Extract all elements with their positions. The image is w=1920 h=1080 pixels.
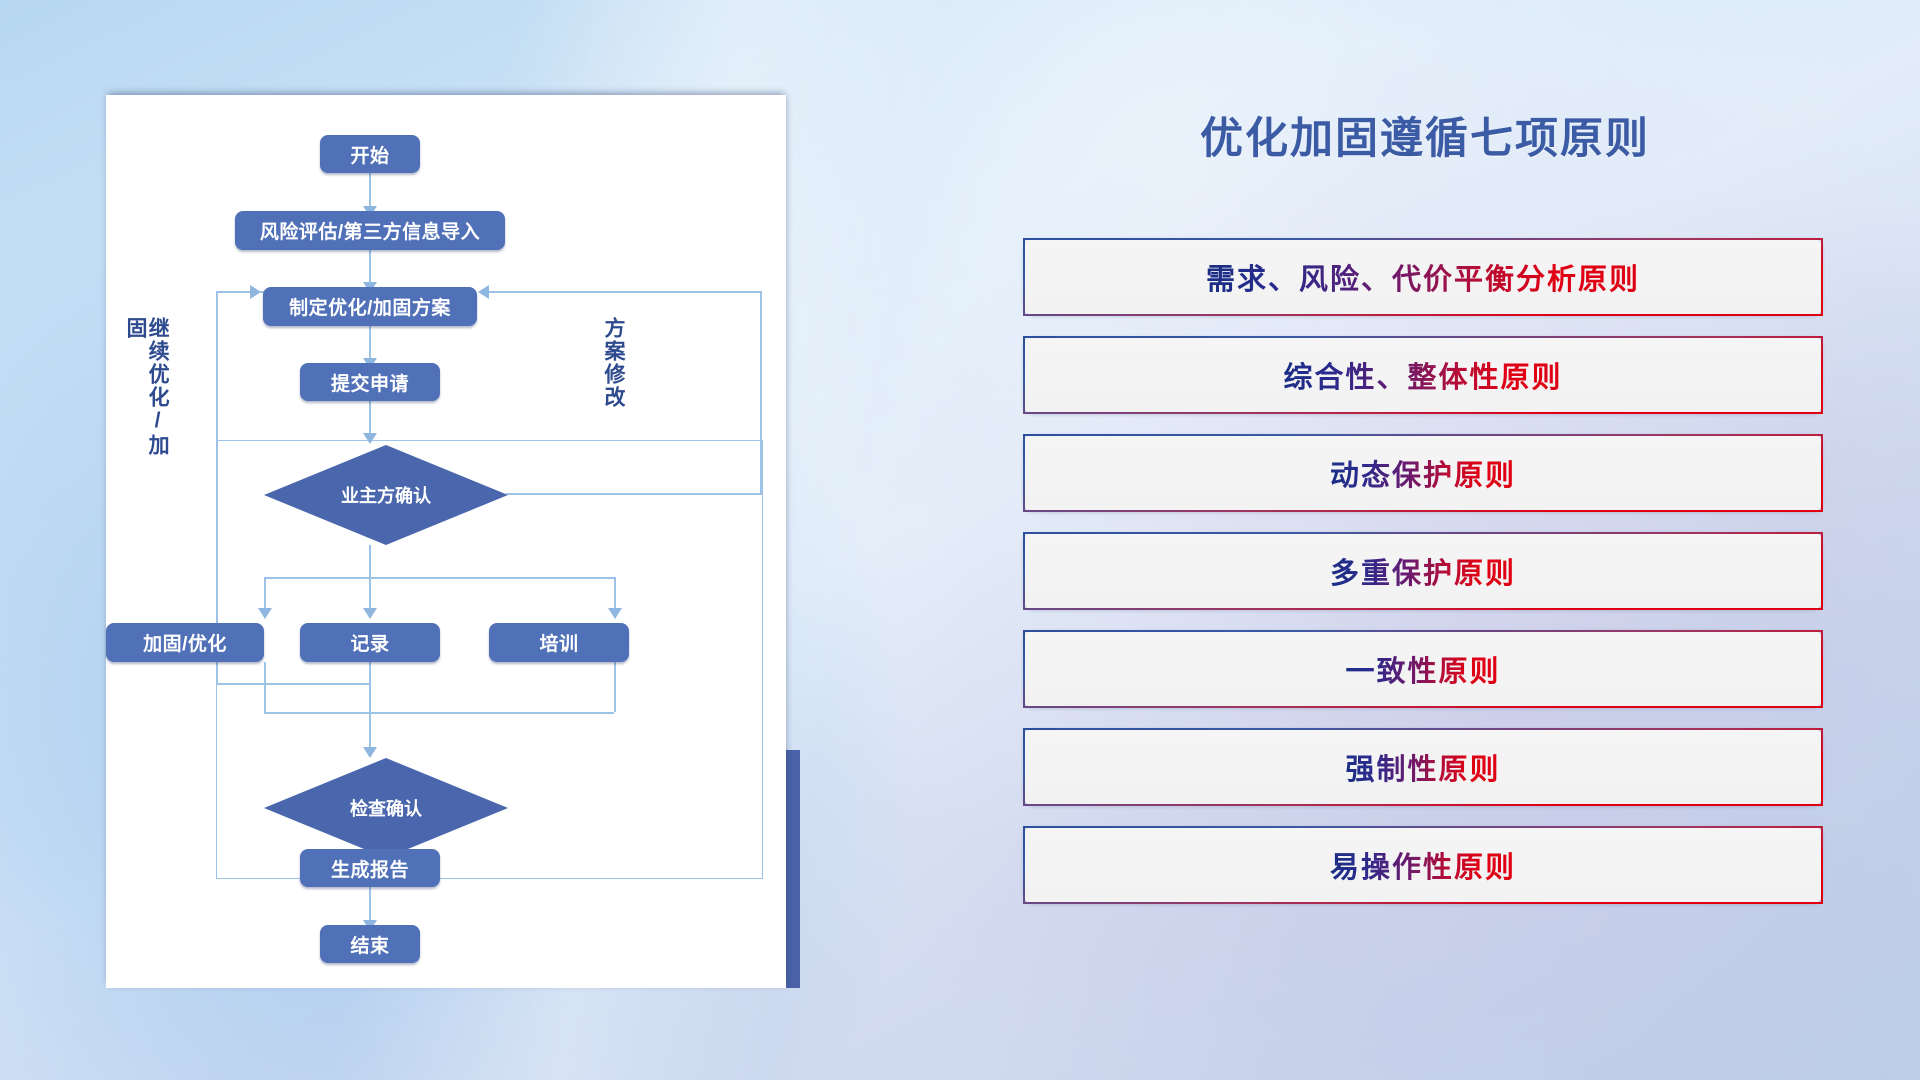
principle-card-1[interactable]: 需求、风险、代价平衡分析原则 <box>1023 238 1823 316</box>
connector-owner-right <box>506 493 762 495</box>
arrow-to-train <box>608 608 622 619</box>
arrow-to-reinforce <box>258 608 272 619</box>
principle-card-4-label: 多重保护原则 <box>1330 550 1516 592</box>
principle-card-7[interactable]: 易操作性原则 <box>1023 826 1823 904</box>
flow-node-risk-assessment[interactable]: 风险评估/第三方信息导入 <box>235 211 505 250</box>
flow-node-start[interactable]: 开始 <box>320 135 420 173</box>
principle-card-3-label: 动态保护原则 <box>1330 452 1516 494</box>
principle-card-5-label: 一致性原则 <box>1345 648 1500 690</box>
principle-card-5[interactable]: 一致性原则 <box>1023 630 1823 708</box>
connector-left-final <box>216 291 249 293</box>
principle-card-1-label: 需求、风险、代价平衡分析原则 <box>1206 256 1640 298</box>
flow-node-plan[interactable]: 制定优化/加固方案 <box>263 287 477 326</box>
flow-node-check-confirm-label: 检查确认 <box>350 795 422 821</box>
principle-card-6-label: 强制性原则 <box>1345 746 1500 788</box>
connector-right-to-plan <box>489 291 761 293</box>
flow-node-end[interactable]: 结束 <box>320 925 420 963</box>
arrow-left-into-plan <box>250 285 261 299</box>
principles-panel: 优化加固遵循七项原则 需求、风险、代价平衡分析原则 综合性、整体性原则 动态保护… <box>1010 78 1840 1008</box>
flow-node-risk-assessment-label: 风险评估/第三方信息导入 <box>260 217 480 244</box>
flow-node-reinforce[interactable]: 加固/优化 <box>106 623 264 662</box>
flow-node-record[interactable]: 记录 <box>300 623 440 662</box>
flow-node-end-label: 结束 <box>350 931 389 958</box>
connector-right-riser <box>760 291 762 495</box>
connector-owner-fanout <box>264 577 614 579</box>
principles-list: 需求、风险、代价平衡分析原则 综合性、整体性原则 动态保护原则 多重保护原则 一… <box>1023 238 1823 924</box>
flowchart-card: 开始 风险评估/第三方信息导入 制定优化/加固方案 提交申请 业主方确认 加固/… <box>106 95 786 988</box>
flow-edge-label-continue-optimize: 继续优化/加固 <box>124 317 168 457</box>
arrow-to-record <box>363 608 377 619</box>
flow-node-reinforce-label: 加固/优化 <box>143 629 227 656</box>
arrow-submit-to-owner <box>363 433 377 444</box>
connector-owner-down <box>369 545 371 577</box>
principle-card-3[interactable]: 动态保护原则 <box>1023 434 1823 512</box>
page-title: 优化加固遵循七项原则 <box>1010 104 1840 166</box>
connector-record-to-check <box>369 662 371 754</box>
flow-edge-label-plan-revision: 方案修改 <box>602 317 624 427</box>
flow-node-record-label: 记录 <box>350 629 389 656</box>
principle-card-2[interactable]: 综合性、整体性原则 <box>1023 336 1823 414</box>
connector-check-left <box>216 683 370 685</box>
connector-reinforce-down <box>264 662 266 712</box>
arrow-right-into-plan <box>478 285 489 299</box>
flow-node-start-label: 开始 <box>350 141 389 168</box>
connector-train-down <box>614 662 616 712</box>
principle-card-6[interactable]: 强制性原则 <box>1023 728 1823 806</box>
flow-node-submit-application-label: 提交申请 <box>331 369 409 396</box>
flow-node-generate-report[interactable]: 生成报告 <box>300 849 440 887</box>
flow-node-generate-report-label: 生成报告 <box>331 855 409 882</box>
flow-node-owner-confirm-label: 业主方确认 <box>341 482 431 508</box>
connector-fanin <box>264 712 614 714</box>
flow-node-training-label: 培训 <box>539 629 578 656</box>
flow-node-training[interactable]: 培训 <box>489 623 629 662</box>
arrow-into-check <box>363 747 377 758</box>
principle-card-2-label: 综合性、整体性原则 <box>1283 354 1562 396</box>
principle-card-7-label: 易操作性原则 <box>1330 844 1516 886</box>
principle-card-4[interactable]: 多重保护原则 <box>1023 532 1823 610</box>
flow-node-plan-label: 制定优化/加固方案 <box>289 293 451 320</box>
flow-node-submit-application[interactable]: 提交申请 <box>300 363 440 401</box>
